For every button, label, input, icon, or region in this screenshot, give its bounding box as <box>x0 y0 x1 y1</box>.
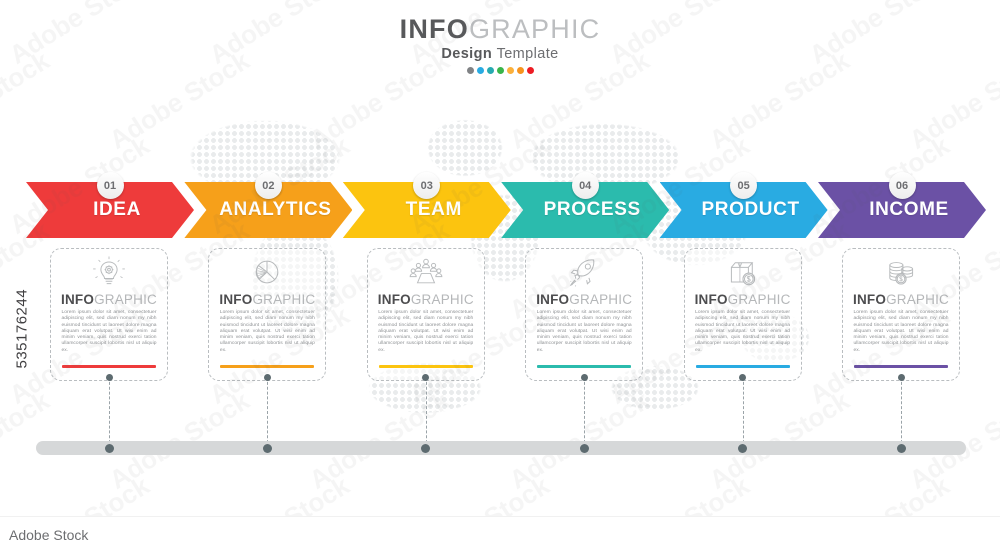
page-title: INFOGRAPHIC <box>0 14 1000 44</box>
header-dot-6 <box>517 67 524 74</box>
step-card-title-bold: INFO <box>219 292 252 307</box>
step-card-title-light: GRAPHIC <box>569 292 632 307</box>
step-card-analytics[interactable]: INFOGRAPHICLorem ipsum dolor sit amet, c… <box>208 248 326 381</box>
header-dot-2 <box>477 67 484 74</box>
watermark-brand: Adobe Stock <box>9 527 88 543</box>
step-card-process[interactable]: INFOGRAPHICLorem ipsum dolor sit amet, c… <box>525 248 643 381</box>
step-card-title-light: GRAPHIC <box>886 292 949 307</box>
timeline-bar <box>36 441 966 455</box>
lightbulb-gear-icon <box>89 255 129 289</box>
step-card-body: Lorem ipsum dolor sit amet, consectetuer… <box>62 310 157 354</box>
card-connector-dot <box>106 374 113 381</box>
step-arrow-label: TEAM <box>392 199 462 221</box>
card-connector-dot <box>898 374 905 381</box>
step-number-badge-06: 06 <box>889 172 916 199</box>
step-number-badge-01: 01 <box>97 172 124 199</box>
step-card-underline <box>220 365 314 368</box>
card-connector-dot <box>264 374 271 381</box>
step-card-title: INFOGRAPHIC <box>219 292 315 307</box>
step-card-title-bold: INFO <box>61 292 94 307</box>
header: INFOGRAPHIC Design Template <box>0 14 1000 74</box>
timeline-connector-line <box>901 377 902 448</box>
step-number-badge-02: 02 <box>255 172 282 199</box>
header-dot-3 <box>487 67 494 74</box>
step-card-title: INFOGRAPHIC <box>536 292 632 307</box>
timeline-dot-2[interactable] <box>263 444 272 453</box>
step-card-income[interactable]: INFOGRAPHICLorem ipsum dolor sit amet, c… <box>842 248 960 381</box>
timeline-connector-line <box>743 377 744 448</box>
timeline-connector-line <box>426 377 427 448</box>
timeline-connector-line <box>584 377 585 448</box>
page-title-light: GRAPHIC <box>469 14 600 44</box>
step-card-body: Lorem ipsum dolor sit amet, consectetuer… <box>695 310 790 354</box>
infographic-canvas: INFOGRAPHIC Design Template IDEA01ANALYT… <box>0 0 1000 556</box>
pie-chart-icon <box>247 255 287 289</box>
timeline-connector-line <box>267 377 268 448</box>
page-subtitle-bold: Design <box>441 46 492 62</box>
step-card-title-bold: INFO <box>695 292 728 307</box>
page-title-bold: INFO <box>400 14 469 44</box>
step-card-body: Lorem ipsum dolor sit amet, consectetuer… <box>537 310 632 354</box>
page-subtitle-light: Template <box>497 46 559 62</box>
team-meeting-icon <box>406 255 446 289</box>
step-arrow-label: IDEA <box>79 199 141 221</box>
header-dot-row <box>0 67 1000 74</box>
step-arrow-label: PROCESS <box>530 199 641 221</box>
step-card-title: INFOGRAPHIC <box>695 292 791 307</box>
card-connector-dot <box>581 374 588 381</box>
step-card-title: INFOGRAPHIC <box>853 292 949 307</box>
step-card-underline <box>537 365 631 368</box>
step-card-title: INFOGRAPHIC <box>378 292 474 307</box>
rocket-icon <box>564 255 604 289</box>
watermark-id: 535176244 <box>14 249 31 369</box>
step-arrow-label: INCOME <box>855 199 949 221</box>
header-dot-7 <box>527 67 534 74</box>
timeline-dot-1[interactable] <box>105 444 114 453</box>
step-arrow-label: PRODUCT <box>688 199 800 221</box>
step-arrow-row: IDEA01ANALYTICS02TEAM03PROCESS04PRODUCT0… <box>26 182 974 242</box>
step-card-title-light: GRAPHIC <box>94 292 157 307</box>
step-number-badge-04: 04 <box>572 172 599 199</box>
step-arrow-label: ANALYTICS <box>205 199 331 221</box>
step-card-body: Lorem ipsum dolor sit amet, consectetuer… <box>378 310 473 354</box>
step-card-title-bold: INFO <box>378 292 411 307</box>
box-coin-icon <box>723 255 763 289</box>
step-card-title-light: GRAPHIC <box>728 292 791 307</box>
step-card-idea[interactable]: INFOGRAPHICLorem ipsum dolor sit amet, c… <box>50 248 168 381</box>
step-card-title-bold: INFO <box>853 292 886 307</box>
step-card-team[interactable]: INFOGRAPHICLorem ipsum dolor sit amet, c… <box>367 248 485 381</box>
step-card-body: Lorem ipsum dolor sit amet, consectetuer… <box>220 310 315 354</box>
timeline-connector-line <box>109 377 110 448</box>
header-dot-1 <box>467 67 474 74</box>
step-card-body: Lorem ipsum dolor sit amet, consectetuer… <box>854 310 949 354</box>
step-card-product[interactable]: INFOGRAPHICLorem ipsum dolor sit amet, c… <box>684 248 802 381</box>
step-card-title-bold: INFO <box>536 292 569 307</box>
header-dot-5 <box>507 67 514 74</box>
step-number-badge-05: 05 <box>730 172 757 199</box>
timeline-dot-4[interactable] <box>580 444 589 453</box>
header-dot-4 <box>497 67 504 74</box>
timeline-dot-5[interactable] <box>738 444 747 453</box>
page-subtitle: Design Template <box>0 46 1000 62</box>
step-card-title-light: GRAPHIC <box>411 292 474 307</box>
step-card-underline <box>696 365 790 368</box>
step-card-underline <box>62 365 156 368</box>
timeline-dot-6[interactable] <box>897 444 906 453</box>
step-card-title: INFOGRAPHIC <box>61 292 157 307</box>
coin-stack-icon <box>881 255 921 289</box>
step-card-underline <box>854 365 948 368</box>
timeline-dot-3[interactable] <box>421 444 430 453</box>
watermark-footer-bar: Adobe Stock <box>0 516 1000 556</box>
step-card-underline <box>379 365 473 368</box>
step-card-title-light: GRAPHIC <box>252 292 315 307</box>
